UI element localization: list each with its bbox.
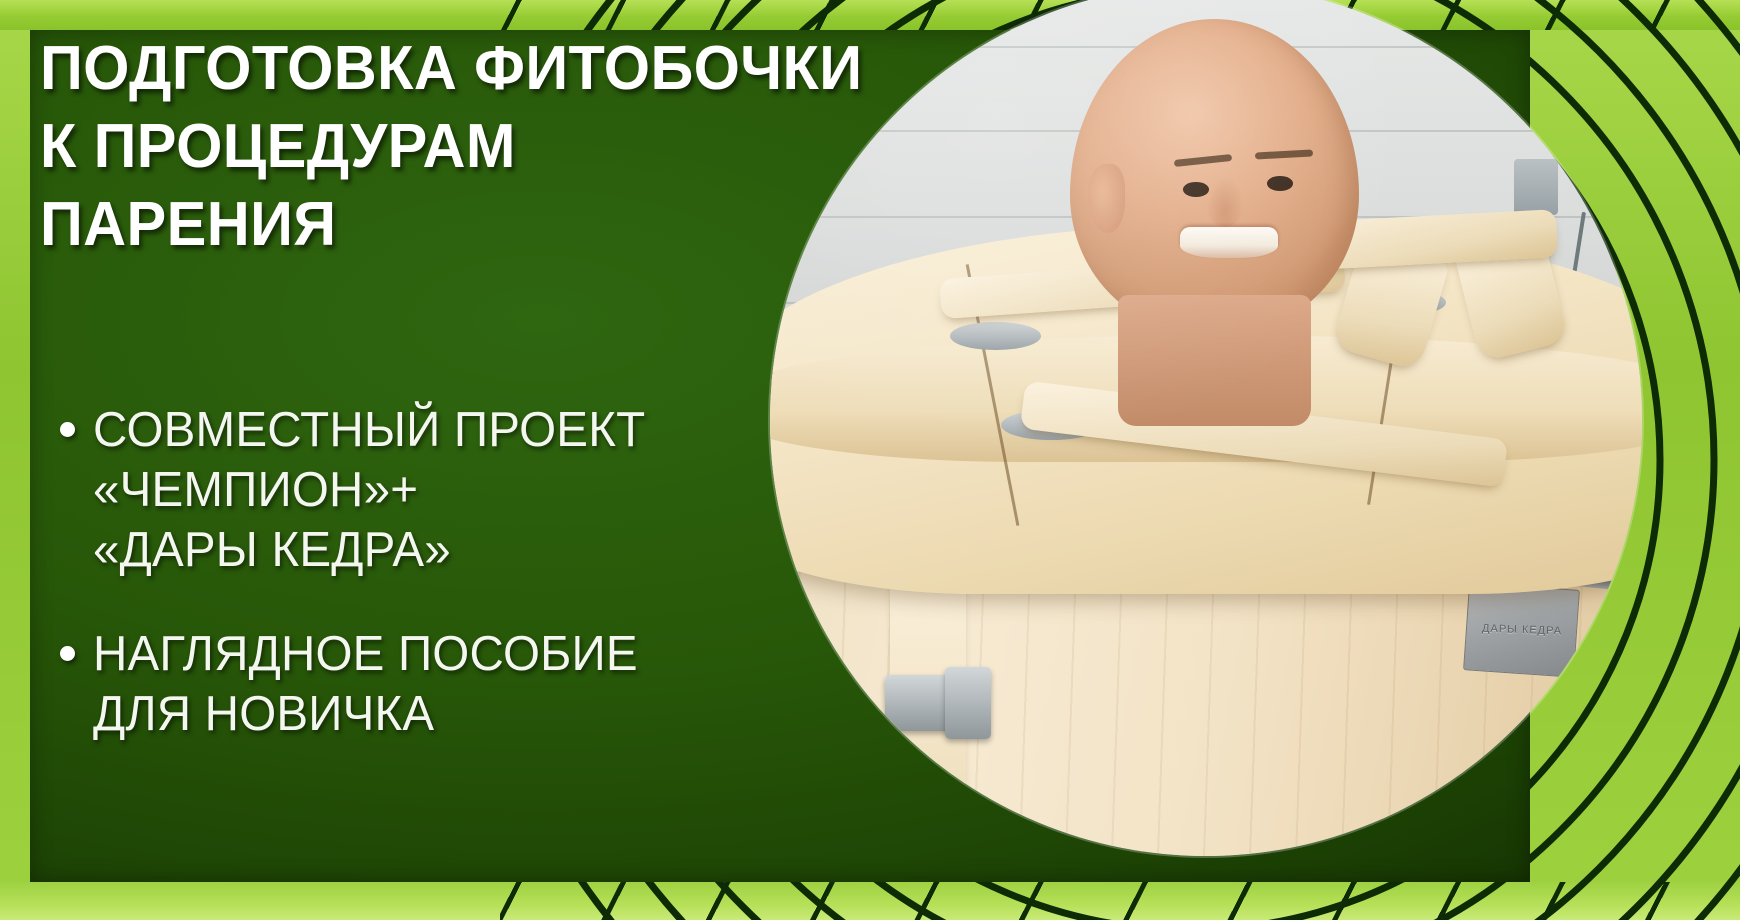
bullet-dot-icon bbox=[60, 646, 75, 661]
person-eyebrow-left bbox=[1174, 154, 1232, 167]
circular-photo: ДАРЫ КЕДРА bbox=[770, 0, 1642, 856]
bullet-2-line-2: ДЛЯ НОВИЧКА bbox=[93, 684, 638, 744]
person-neck bbox=[1118, 295, 1311, 425]
bullet-2-text: НАГЛЯДНОЕ ПОСОБИЕ ДЛЯ НОВИЧКА bbox=[93, 624, 638, 744]
person-eye-left bbox=[1183, 182, 1209, 196]
bullet-list: СОВМЕСТНЫЙ ПРОЕКТ «ЧЕМПИОН»+ «ДАРЫ КЕДРА… bbox=[38, 400, 838, 788]
bullet-dot-icon bbox=[60, 422, 75, 437]
person-eye-right bbox=[1267, 176, 1293, 190]
top-plain-band-segment bbox=[0, 0, 420, 30]
bullet-1-line-2: «ЧЕМПИОН»+ bbox=[93, 460, 645, 520]
person-head bbox=[1070, 19, 1359, 334]
barrel-nameplate-text: ДАРЫ КЕДРА bbox=[1482, 623, 1562, 638]
photo-content: ДАРЫ КЕДРА bbox=[770, 0, 1642, 856]
bullet-1-line-3: «ДАРЫ КЕДРА» bbox=[93, 520, 645, 580]
person-in-barrel bbox=[1014, 19, 1415, 403]
person-eyebrow-right bbox=[1255, 149, 1313, 159]
bullet-1-line-1: СОВМЕСТНЫЙ ПРОЕКТ bbox=[93, 400, 645, 460]
list-item: НАГЛЯДНОЕ ПОСОБИЕ ДЛЯ НОВИЧКА bbox=[38, 624, 838, 744]
barrel-latch-hook bbox=[945, 667, 991, 739]
bullet-2-line-1: НАГЛЯДНОЕ ПОСОБИЕ bbox=[93, 624, 638, 684]
person-ear bbox=[1088, 164, 1126, 233]
person-mouth bbox=[1180, 227, 1278, 258]
bullet-1-text: СОВМЕСТНЫЙ ПРОЕКТ «ЧЕМПИОН»+ «ДАРЫ КЕДРА… bbox=[93, 400, 645, 580]
barrel-nameplate: ДАРЫ КЕДРА bbox=[1463, 583, 1580, 679]
list-item: СОВМЕСТНЫЙ ПРОЕКТ «ЧЕМПИОН»+ «ДАРЫ КЕДРА… bbox=[38, 400, 838, 580]
bottom-plain-band-segment bbox=[0, 882, 500, 920]
person-nose bbox=[1206, 176, 1244, 226]
promo-slide: ПОДГОТОВКА ФИТОБОЧКИ К ПРОЦЕДУРАМ ПАРЕНИ… bbox=[0, 0, 1740, 920]
